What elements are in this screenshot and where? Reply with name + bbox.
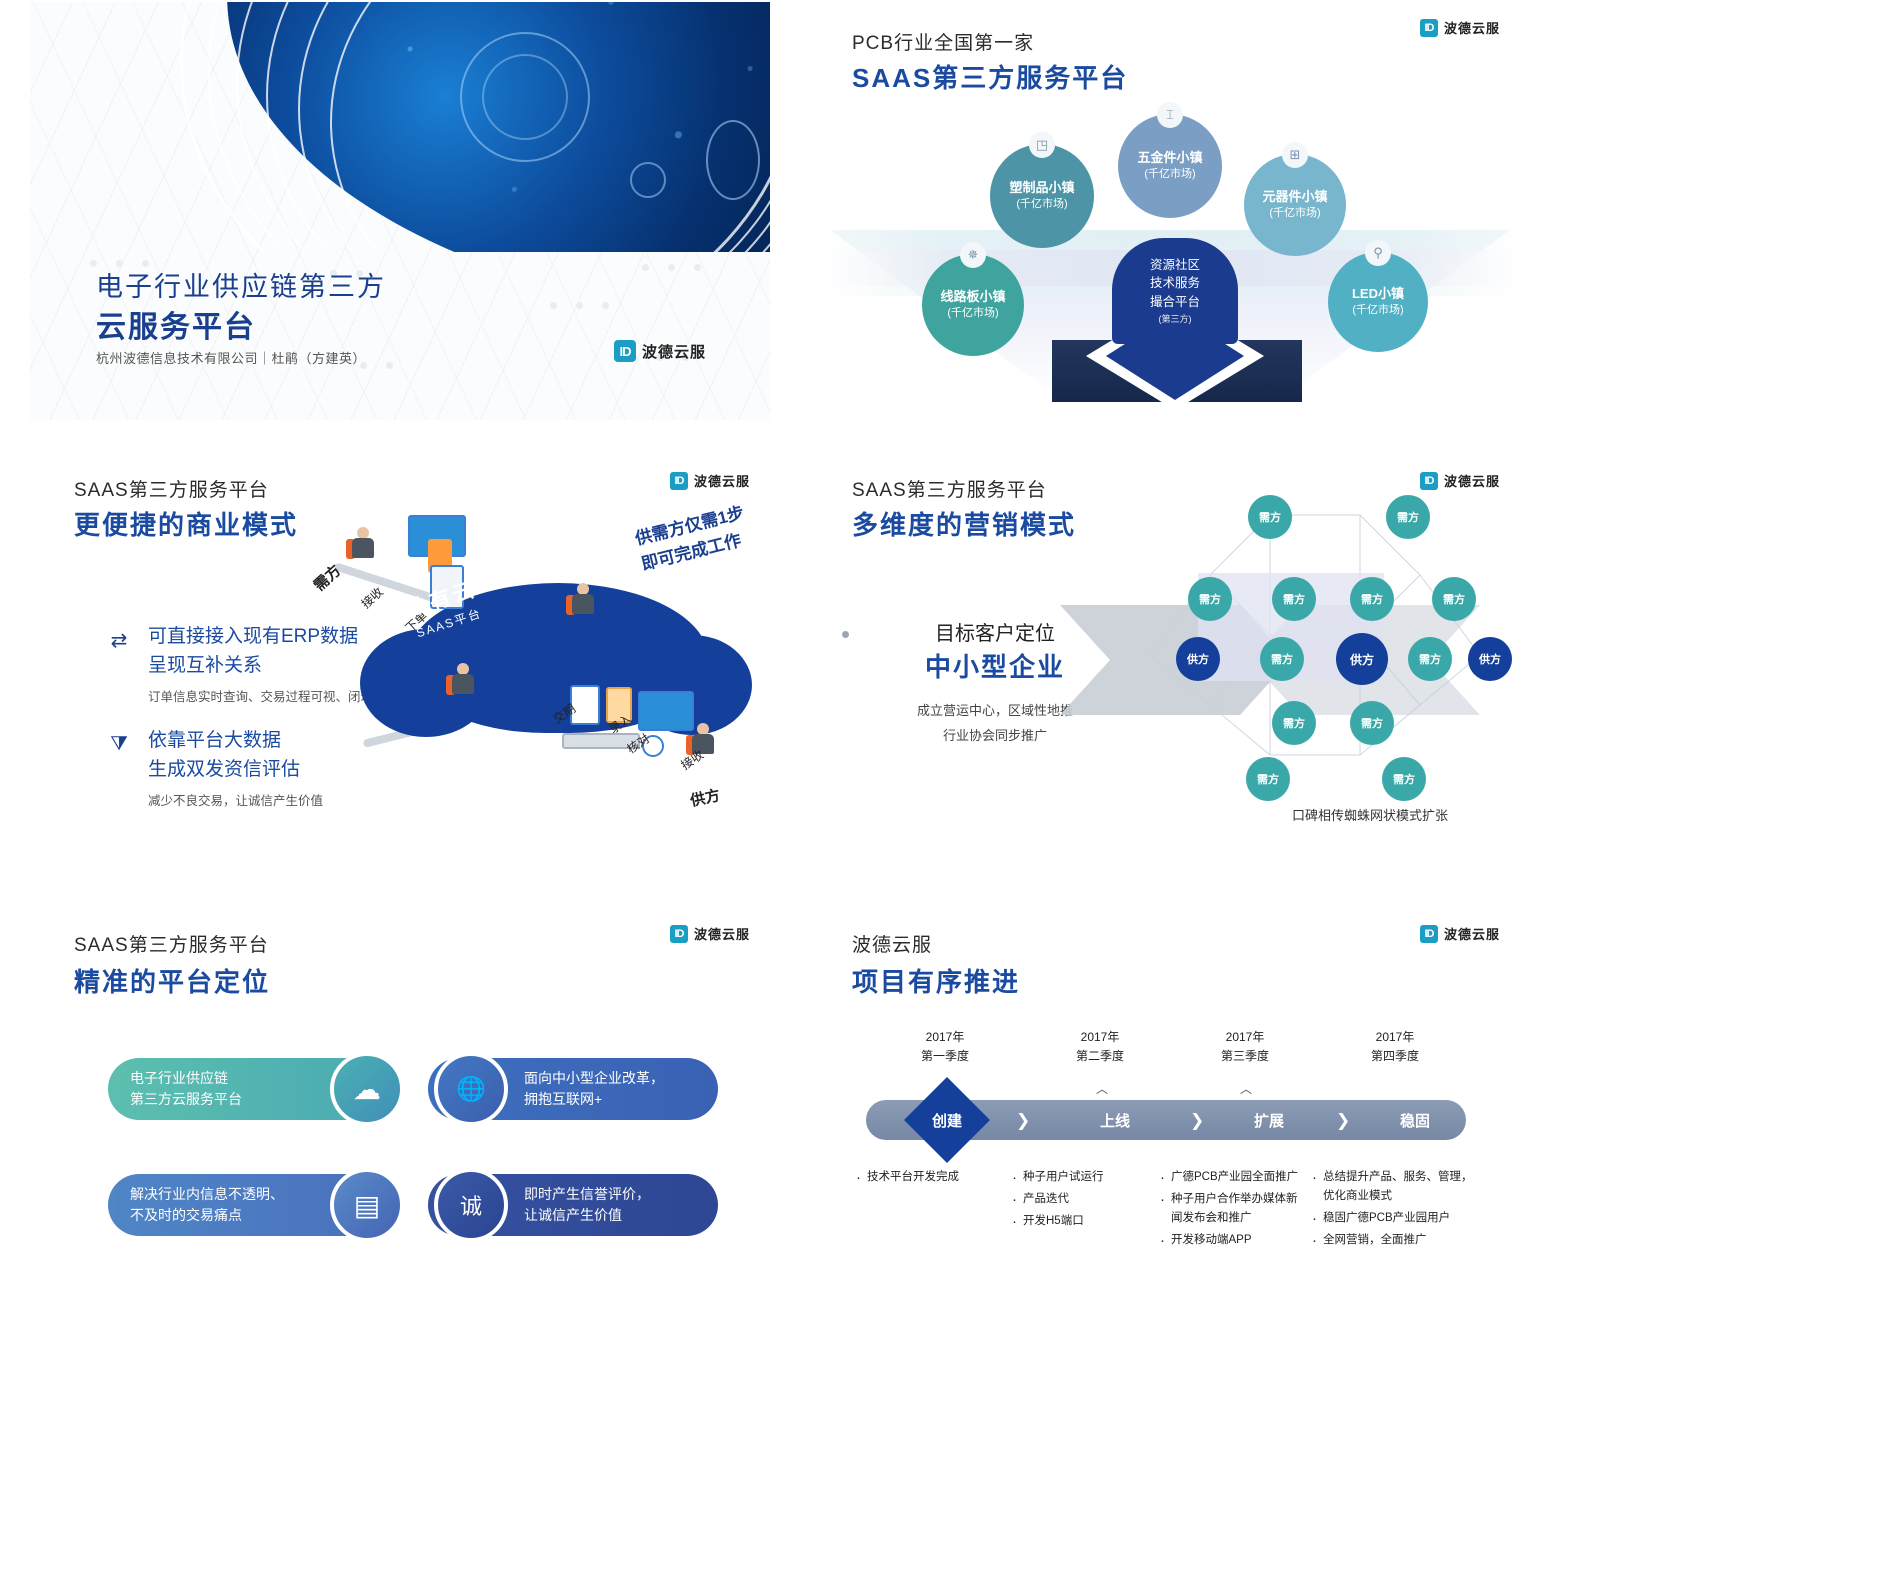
node-demand[interactable]: 需方 [1382, 757, 1426, 801]
card-line2: 让诚信产生价值 [524, 1205, 650, 1226]
tree-icon: ✵ [960, 242, 986, 268]
bubble-sub: (千亿市场) [1144, 168, 1195, 182]
logo-mark-icon: ID [670, 472, 688, 490]
brand-logo: ID 波德云服 [1420, 18, 1500, 37]
node-demand[interactable]: 需方 [1408, 637, 1452, 681]
slide-title: 更便捷的商业模式 [74, 505, 298, 542]
slide-3-business-model: ID 波德云服 SAAS第三方服务平台 更便捷的商业模式 ⇄ 可直接接入现有ER… [30, 455, 770, 873]
stage-label: 创建 [932, 1110, 962, 1131]
bullet-line2: 生成双发资信评估 [148, 756, 448, 785]
bubble-sub: (千亿市场) [947, 307, 998, 321]
list-item: 产品迭代 [1010, 1190, 1160, 1209]
slide-5-platform-positioning: ID 波德云服 SAAS第三方服务平台 精准的平台定位 电子行业供应链 第三方云… [30, 908, 770, 1326]
logo-text: 波德云服 [642, 341, 706, 362]
timeline-items-q2: 种子用户试运行 产品迭代 开发H5端口 [1010, 1168, 1160, 1234]
logo-mark-icon: ID [1420, 925, 1438, 943]
quarter-label: 第一季度 [880, 1047, 1010, 1066]
node-demand[interactable]: 需方 [1432, 577, 1476, 621]
brand-logo: ID 波德云服 [670, 924, 750, 943]
list-item: 稳固广德PCB产业园用户 [1310, 1209, 1475, 1228]
exchange-icon: ⇄ [106, 627, 132, 653]
bullet-sub: 减少不良交易，让诚信产生价值 [148, 790, 448, 809]
node-demand[interactable]: 需方 [1188, 577, 1232, 621]
slide-6-project-roadmap: ID 波德云服 波德云服 项目有序推进 2017年 第一季度 2017年 第二季… [820, 908, 1520, 1326]
slide-title: 项目有序推进 [852, 962, 1020, 999]
town-bubble-led[interactable]: ⚲ LED小镇 (千亿市场) [1328, 252, 1428, 352]
bubble-title: 塑制品小镇 [1009, 180, 1074, 196]
timeline-stage-create[interactable]: 创建 [904, 1077, 990, 1163]
node-supply-center[interactable]: 供方 [1336, 633, 1388, 685]
slide-4-marketing-model: ID 波德云服 SAAS第三方服务平台 多维度的营销模式 目标客户定位 中小型企… [820, 455, 1520, 873]
cover-title-line2: 云服务平台 [96, 302, 256, 346]
node-demand[interactable]: 需方 [1248, 495, 1292, 539]
logo-text: 波德云服 [694, 924, 750, 943]
node-supply-left[interactable]: 供方 [1176, 637, 1220, 681]
town-bubble-plastic[interactable]: ◳ 塑制品小镇 (千亿市场) [990, 144, 1094, 248]
card-line1: 即时产生信誉评价， [524, 1184, 650, 1205]
timeline-heading-q3: 2017年 第三季度 [1180, 1028, 1310, 1066]
slide-1-cover: 电子行业供应链第三方 云服务平台 杭州波德信息技术有限公司｜杜鹃（方建英） ID… [30, 2, 770, 420]
node-demand[interactable]: 需方 [1260, 637, 1304, 681]
logo-text: 波德云服 [694, 471, 750, 490]
bubble-sub: (千亿市场) [1016, 198, 1067, 212]
chevron-right-icon: ❯ [1016, 1111, 1030, 1131]
list-item: 技术平台开发完成 [854, 1168, 1004, 1187]
logo-mark-icon: ID [1420, 19, 1438, 37]
year-label: 2017年 [1330, 1028, 1460, 1047]
town-bubble-hardware[interactable]: ⌶ 五金件小镇 (千亿市场) [1118, 114, 1222, 218]
core-line3: 撮合平台 [1150, 293, 1200, 311]
card-line2: 拥抱互联网+ [524, 1089, 664, 1110]
person-operator [570, 583, 596, 617]
timeline-stage-launch[interactable]: 上线 [1060, 1100, 1170, 1140]
year-label: 2017年 [1180, 1028, 1310, 1047]
bubble-title: LED小镇 [1352, 286, 1404, 302]
logo-text: 波德云服 [1444, 924, 1500, 943]
list-item: 种子用户合作举办媒体新闻发布会和推广 [1158, 1190, 1308, 1228]
bulb-icon: ⚲ [1365, 240, 1391, 266]
slide-eyebrow: SAAS第三方服务平台 [74, 475, 269, 502]
cube-icon: ◳ [1029, 132, 1055, 158]
node-demand[interactable]: 需方 [1350, 577, 1394, 621]
timeline-stage-stabilize[interactable]: 稳固 [1360, 1100, 1470, 1140]
slide-2-saas-platform: ID 波德云服 PCB行业全国第一家 SAAS第三方服务平台 ◳ 塑制品小镇 (… [820, 2, 1520, 420]
slide-title: SAAS第三方服务平台 [852, 58, 1128, 95]
cover-subtitle: 杭州波德信息技术有限公司｜杜鹃（方建英） [96, 348, 366, 367]
bubble-title: 元器件小镇 [1262, 189, 1327, 205]
core-line2: 技术服务 [1150, 274, 1200, 292]
slide-eyebrow: PCB行业全国第一家 [852, 28, 1034, 55]
logo-mark-icon: ID [670, 925, 688, 943]
quarter-label: 第四季度 [1330, 1047, 1460, 1066]
bubble-title: 五金件小镇 [1137, 150, 1202, 166]
list-item: 开发H5端口 [1010, 1212, 1160, 1231]
network-icon: ⧩ [106, 731, 132, 757]
timeline-items-q1: 技术平台开发完成 [854, 1168, 1004, 1190]
timeline-heading-q2: 2017年 第二季度 [1035, 1028, 1165, 1066]
core-line1: 资源社区 [1150, 256, 1200, 274]
core-line4: (第三方) [1159, 313, 1192, 326]
callout-headline: 供需方仅需1步 即可完成工作 [632, 500, 752, 576]
town-bubble-pcb[interactable]: ✵ 线路板小镇 (千亿市场) [922, 254, 1024, 356]
cover-hero-image [30, 2, 770, 252]
town-bubble-components[interactable]: ⊞ 元器件小镇 (千亿市场) [1244, 154, 1346, 256]
card-line1: 电子行业供应链 [130, 1068, 242, 1089]
timeline-items-q3: 广德PCB产业园全面推广 种子用户合作举办媒体新闻发布会和推广 开发移动端APP [1158, 1168, 1308, 1253]
node-demand[interactable]: 需方 [1272, 701, 1316, 745]
person-worker [450, 663, 476, 697]
quarter-label: 第三季度 [1180, 1047, 1310, 1066]
chip-icon: ⊞ [1282, 142, 1308, 168]
brand-logo: ID 波德云服 [1420, 924, 1500, 943]
list-item: 开发移动端APP [1158, 1231, 1308, 1250]
flow-label-receive-1: 接收 [357, 583, 386, 612]
year-label: 2017年 [1035, 1028, 1165, 1047]
node-demand[interactable]: 需方 [1386, 495, 1430, 539]
card-line2: 不及时的交易痛点 [130, 1205, 284, 1226]
stage-label: 稳固 [1400, 1110, 1430, 1131]
cover-title-line1: 电子行业供应链第三方 [96, 265, 386, 304]
stage-label: 扩展 [1254, 1110, 1284, 1131]
brand-logo: ID 波德云服 [670, 471, 750, 490]
card-line1: 面向中小型企业改革， [524, 1068, 664, 1089]
bubble-sub: (千亿市场) [1352, 304, 1403, 318]
list-item: 广德PCB产业园全面推广 [1158, 1168, 1308, 1187]
chevron-right-icon: ❯ [1190, 1111, 1204, 1131]
node-demand[interactable]: 需方 [1272, 577, 1316, 621]
shield-icon: 诚 [434, 1168, 508, 1242]
timeline-stage-expand[interactable]: 扩展 [1214, 1100, 1324, 1140]
slide-deck: 电子行业供应链第三方 云服务平台 杭州波德信息技术有限公司｜杜鹃（方建英） ID… [0, 0, 1900, 1577]
list-item: 全网营销，全面推广 [1310, 1231, 1475, 1250]
timeline-heading-q4: 2017年 第四季度 [1330, 1028, 1460, 1066]
quarter-label: 第二季度 [1035, 1047, 1165, 1066]
caret-icon: ︿ [1240, 1080, 1252, 1097]
timeline-heading-q1: 2017年 第一季度 [880, 1028, 1010, 1066]
cloud-icon: ☁ [330, 1052, 404, 1126]
globe-icon: 🌐 [434, 1052, 508, 1126]
screw-icon: ⌶ [1157, 102, 1183, 128]
node-supply-right[interactable]: 供方 [1468, 637, 1512, 681]
document-icon: ▤ [330, 1168, 404, 1242]
timeline-items-q4: 总结提升产品、服务、管理，优化商业模式 稳固广德PCB产业园用户 全网营销，全面… [1310, 1168, 1475, 1253]
diagram-caption: 口碑相传蜘蛛网状模式扩张 [1220, 805, 1520, 824]
node-demand[interactable]: 需方 [1350, 701, 1394, 745]
list-item: 总结提升产品、服务、管理，优化商业模式 [1310, 1168, 1475, 1206]
slide-eyebrow: SAAS第三方服务平台 [74, 930, 269, 957]
slide-title: 精准的平台定位 [74, 962, 270, 999]
brand-logo: ID 波德云服 [614, 340, 706, 362]
card-line2: 第三方云服务平台 [130, 1089, 242, 1110]
caret-icon: ︿ [1096, 1080, 1108, 1097]
chevron-right-icon: ❯ [1336, 1111, 1350, 1131]
node-demand[interactable]: 需方 [1246, 757, 1290, 801]
stage-label: 上线 [1100, 1110, 1130, 1131]
card-line1: 解决行业内信息不透明、 [130, 1184, 284, 1205]
slide-eyebrow: 波德云服 [852, 930, 932, 957]
list-item: 种子用户试运行 [1010, 1168, 1160, 1187]
person-buyer [350, 527, 376, 561]
logo-mark-icon: ID [614, 340, 636, 362]
flow-label-supply: 供方 [688, 784, 722, 811]
bubble-sub: (千亿市场) [1269, 207, 1320, 221]
core-platform-node[interactable]: 资源社区 技术服务 撮合平台 (第三方) [1112, 238, 1238, 344]
year-label: 2017年 [880, 1028, 1010, 1047]
bubble-title: 线路板小镇 [940, 289, 1005, 305]
logo-text: 波德云服 [1444, 18, 1500, 37]
bullet-item-2: ⧩ 依靠平台大数据 生成双发资信评估 减少不良交易，让诚信产生价值 [148, 727, 448, 809]
